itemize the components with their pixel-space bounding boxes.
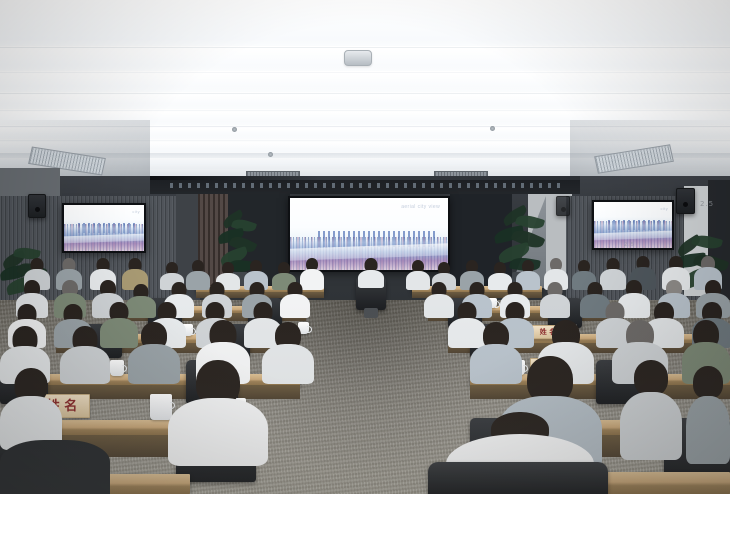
- attendee-head: [693, 366, 723, 399]
- left-led-screen-content: city: [64, 205, 144, 251]
- chair-base: [364, 308, 378, 318]
- attendee-foreground: [0, 368, 62, 450]
- attendee-torso: [280, 294, 310, 318]
- attendee-torso: [60, 346, 110, 384]
- ceiling-seam: [0, 93, 730, 94]
- smoke-detector-icon: [344, 50, 372, 66]
- wall-sign-secondary: 2.5: [624, 242, 635, 248]
- ceiling-seam: [0, 72, 730, 73]
- attendee-foreground: [686, 366, 730, 464]
- screen-corner-tag: city: [661, 206, 669, 211]
- water-cup: [110, 360, 124, 376]
- chair[interactable]: [428, 462, 608, 494]
- attendee-torso: [262, 344, 314, 384]
- ceiling-spot-fitting: [232, 127, 237, 132]
- screen-corner-tag: city: [132, 209, 140, 214]
- conference-room-photo: aerial city view city city: [0, 0, 730, 494]
- attendee: [60, 326, 110, 384]
- ceiling-light-strip: [0, 74, 730, 92]
- attendee: [540, 282, 570, 318]
- attendee-torso: [168, 398, 268, 466]
- attendee-torso: [540, 294, 570, 318]
- screen-corner-tag: aerial city view: [401, 204, 440, 210]
- attendee-closest: [0, 440, 110, 494]
- attendee-foreground: [620, 360, 682, 460]
- ceiling-spot-fitting: [490, 126, 495, 131]
- wall-speaker: [556, 196, 570, 216]
- letterbox-bottom: [0, 494, 730, 548]
- screenshot-root: aerial city view city city: [0, 0, 730, 548]
- soffit-downlight-row: [170, 183, 560, 188]
- wall-speaker: [676, 188, 695, 214]
- wall-sign: 2.5: [700, 200, 714, 208]
- plant-leaf: [691, 233, 723, 252]
- wall-speaker: [28, 194, 46, 218]
- ceiling-seam: [0, 47, 730, 48]
- attendee: [280, 282, 310, 318]
- stage-soffit-lip: [150, 176, 580, 180]
- ceiling-light-strip: [0, 95, 730, 109]
- attendee: [358, 258, 384, 288]
- attendee-head: [634, 360, 668, 396]
- ceiling-spot-fitting: [268, 152, 273, 157]
- attendee: [262, 322, 314, 384]
- attendee-torso: [0, 440, 110, 494]
- attendee-torso: [686, 396, 730, 464]
- attendee-foreground: [168, 360, 268, 466]
- ceiling-light-strip: [0, 0, 730, 46]
- attendee-torso: [620, 392, 682, 460]
- left-led-screen[interactable]: city: [62, 203, 146, 253]
- ceiling: [0, 0, 730, 196]
- attendee-torso: [358, 270, 384, 288]
- ceiling-seam: [0, 110, 730, 111]
